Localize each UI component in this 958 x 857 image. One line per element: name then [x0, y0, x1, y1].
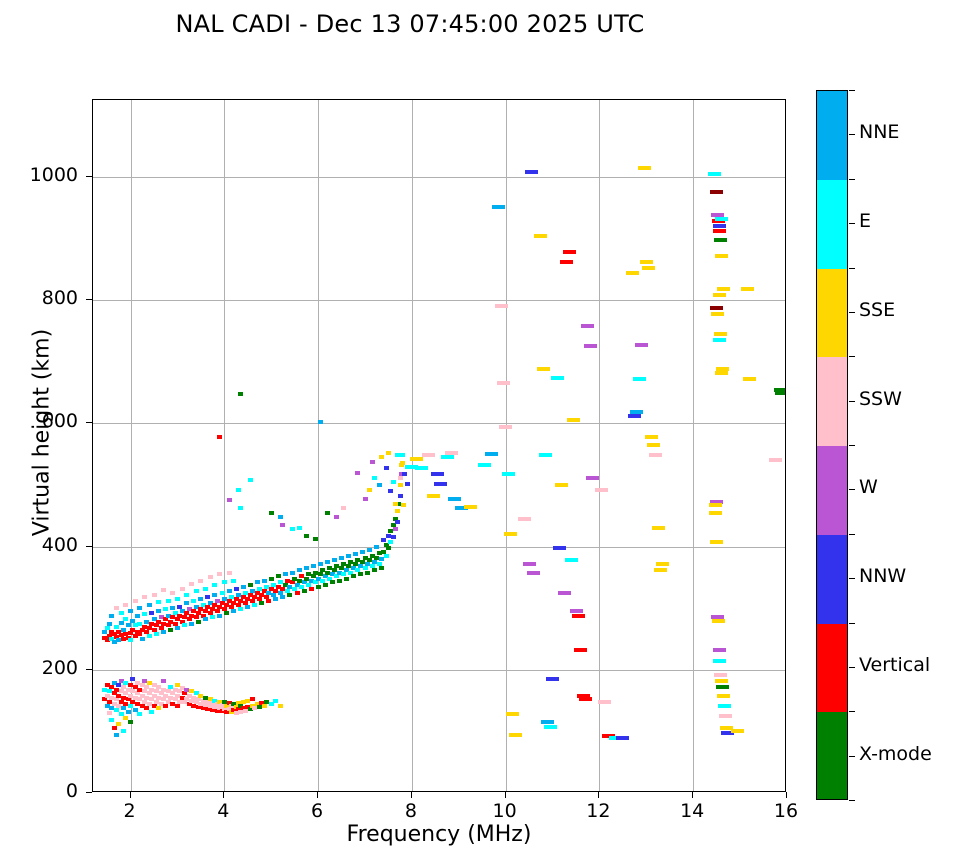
- data-point: [544, 725, 557, 729]
- colorbar-band-vertical[interactable]: [817, 624, 847, 713]
- data-point: [297, 526, 302, 530]
- data-point: [360, 550, 365, 554]
- data-point: [119, 611, 124, 615]
- data-point: [269, 577, 274, 581]
- colorbar-tick: [849, 134, 855, 135]
- data-point: [238, 506, 243, 510]
- data-point: [189, 582, 194, 586]
- data-point: [224, 611, 229, 615]
- data-point: [478, 463, 491, 467]
- data-point: [166, 599, 171, 603]
- data-point: [236, 488, 241, 492]
- data-point: [278, 515, 283, 519]
- data-point: [156, 600, 161, 604]
- data-point: [130, 677, 135, 681]
- data-point: [353, 552, 358, 556]
- x-axis-tick-label: 2: [100, 800, 160, 822]
- data-point: [135, 614, 140, 618]
- data-point: [198, 579, 203, 583]
- data-point: [534, 234, 547, 238]
- y-axis-tick: [86, 299, 92, 300]
- data-point: [231, 579, 236, 583]
- data-point: [123, 617, 128, 621]
- data-point: [595, 488, 608, 492]
- data-point: [398, 476, 403, 480]
- colorbar-band-e[interactable]: [817, 180, 847, 269]
- data-point: [551, 376, 564, 380]
- gridline-horizontal: [93, 547, 785, 548]
- data-point: [713, 293, 726, 297]
- data-point: [217, 435, 222, 439]
- data-point: [212, 593, 217, 597]
- data-point: [431, 472, 444, 476]
- colorbar-label-sse: SSE: [859, 299, 895, 321]
- data-point: [248, 478, 253, 482]
- data-point: [126, 623, 131, 627]
- data-point: [731, 729, 744, 733]
- data-point: [499, 425, 512, 429]
- data-point: [504, 532, 517, 536]
- ionogram-figure: NAL CADI - Dec 13 07:45:00 2025 UTC 2468…: [0, 0, 958, 857]
- data-point: [719, 714, 732, 718]
- data-point: [395, 453, 400, 457]
- data-point: [715, 217, 728, 221]
- data-point: [142, 612, 147, 616]
- colorbar-band-w[interactable]: [817, 446, 847, 535]
- data-point: [769, 458, 782, 462]
- page-title: NAL CADI - Dec 13 07:45:00 2025 UTC: [0, 10, 820, 38]
- data-point: [304, 534, 309, 538]
- data-point: [400, 453, 405, 457]
- data-point: [427, 494, 440, 498]
- colorbar-edge-tick: [849, 534, 855, 535]
- colorbar-edge-tick: [849, 800, 855, 801]
- data-point: [175, 626, 180, 630]
- data-point: [241, 585, 246, 589]
- colorbar-band-ssw[interactable]: [817, 357, 847, 446]
- data-point: [630, 410, 643, 414]
- data-point: [775, 391, 786, 395]
- data-point: [283, 572, 288, 576]
- data-point: [537, 367, 550, 371]
- data-point: [506, 712, 519, 716]
- data-point: [227, 571, 232, 575]
- data-point: [563, 250, 576, 254]
- x-axis-tick-label: 10: [475, 800, 535, 822]
- data-point: [252, 603, 257, 607]
- data-point: [374, 545, 379, 549]
- data-point: [441, 455, 454, 459]
- data-point: [708, 172, 721, 176]
- data-point: [170, 606, 175, 610]
- x-axis-tick: [317, 792, 318, 798]
- data-point: [166, 623, 171, 627]
- data-point: [633, 377, 646, 381]
- gridline-horizontal: [93, 423, 785, 424]
- data-point: [714, 238, 727, 242]
- data-point: [334, 515, 339, 519]
- colorbar-band-nne[interactable]: [817, 91, 847, 180]
- data-point: [716, 685, 729, 689]
- data-point: [399, 463, 404, 467]
- data-point: [299, 585, 304, 589]
- data-point: [149, 611, 154, 615]
- data-point: [713, 229, 726, 233]
- data-point: [579, 697, 592, 701]
- data-point: [546, 677, 559, 681]
- colorbar-label-nne: NNE: [859, 121, 899, 143]
- data-point: [266, 599, 271, 603]
- colorbar-tick: [849, 756, 855, 757]
- gridline-vertical: [506, 100, 507, 791]
- data-point: [445, 451, 458, 455]
- data-point: [539, 453, 552, 457]
- data-point: [523, 562, 536, 566]
- data-point: [262, 579, 267, 583]
- data-point: [123, 603, 128, 607]
- data-point: [391, 480, 396, 484]
- data-point: [381, 538, 386, 542]
- data-point: [565, 558, 578, 562]
- x-axis-tick: [505, 792, 506, 798]
- data-point: [114, 733, 119, 737]
- data-point: [126, 710, 131, 714]
- colorbar-label-e: E: [859, 210, 871, 232]
- data-point: [238, 607, 243, 611]
- data-point: [344, 577, 349, 581]
- data-point: [137, 712, 142, 716]
- y-axis-tick-label: 0: [0, 780, 78, 802]
- data-point: [163, 704, 168, 708]
- colorbar-band-nnw[interactable]: [817, 535, 847, 624]
- data-point: [142, 595, 147, 599]
- data-point: [245, 605, 250, 609]
- data-point: [154, 632, 159, 636]
- data-point: [713, 224, 726, 228]
- data-point: [163, 607, 168, 611]
- data-point: [649, 453, 662, 457]
- data-point: [217, 572, 222, 576]
- data-point: [714, 332, 727, 336]
- data-point: [384, 554, 389, 558]
- data-point: [717, 287, 730, 291]
- data-point: [168, 628, 173, 632]
- data-point: [152, 593, 157, 597]
- x-axis-tick: [598, 792, 599, 798]
- y-axis-tick: [86, 792, 92, 793]
- gridline-horizontal: [93, 670, 785, 671]
- data-point: [388, 489, 393, 493]
- data-point: [318, 562, 323, 566]
- data-point: [276, 574, 281, 578]
- data-point: [372, 568, 377, 572]
- data-point: [388, 540, 393, 544]
- y-axis-label: Virtual height (km): [30, 86, 55, 780]
- data-point: [205, 595, 210, 599]
- data-point: [290, 527, 295, 531]
- data-point: [114, 625, 119, 629]
- colorbar-edge-tick: [849, 179, 855, 180]
- data-point: [712, 619, 725, 623]
- data-point: [509, 733, 522, 737]
- gridline-vertical: [693, 100, 694, 791]
- x-axis-tick-label: 4: [193, 800, 253, 822]
- data-point: [405, 482, 410, 486]
- data-point: [718, 704, 731, 708]
- data-point: [109, 614, 114, 618]
- x-axis-tick-label: 12: [568, 800, 628, 822]
- colorbar-label-vertical: Vertical: [859, 654, 930, 676]
- data-point: [313, 537, 318, 541]
- colorbar-edge-tick: [849, 90, 855, 91]
- data-point: [175, 704, 180, 708]
- x-axis-tick: [223, 792, 224, 798]
- y-axis-tick: [86, 422, 92, 423]
- data-point: [194, 615, 199, 619]
- data-point: [259, 601, 264, 605]
- data-point: [287, 593, 292, 597]
- colorbar-edge-tick: [849, 445, 855, 446]
- data-point: [280, 523, 285, 527]
- x-axis-tick-label: 16: [756, 800, 816, 822]
- data-point: [337, 579, 342, 583]
- data-point: [194, 589, 199, 593]
- data-point: [713, 659, 726, 663]
- data-point: [581, 324, 594, 328]
- data-point: [248, 583, 253, 587]
- data-point: [208, 575, 213, 579]
- data-point: [295, 591, 300, 595]
- data-point: [574, 648, 587, 652]
- colorbar-band-x-mode[interactable]: [817, 712, 847, 800]
- data-point: [656, 562, 669, 566]
- data-point: [175, 597, 180, 601]
- colorbar[interactable]: [816, 90, 848, 800]
- data-point: [210, 615, 215, 619]
- data-point: [227, 498, 232, 502]
- data-point: [497, 381, 510, 385]
- data-point: [395, 520, 400, 524]
- data-point: [156, 609, 161, 613]
- data-point: [130, 619, 135, 623]
- colorbar-label-x-mode: X-mode: [859, 743, 932, 765]
- data-point: [393, 502, 398, 506]
- data-point: [309, 587, 314, 591]
- data-point: [220, 591, 225, 595]
- data-point: [555, 483, 568, 487]
- data-point: [198, 597, 203, 601]
- data-point: [238, 392, 243, 396]
- data-point: [290, 571, 295, 575]
- colorbar-label-w: W: [859, 476, 878, 498]
- data-point: [502, 472, 515, 476]
- data-point: [184, 601, 189, 605]
- data-point: [635, 343, 648, 347]
- data-point: [112, 726, 117, 730]
- data-point: [325, 560, 330, 564]
- data-point: [616, 736, 629, 740]
- data-point: [255, 580, 260, 584]
- data-point: [189, 622, 194, 626]
- data-point: [422, 453, 435, 457]
- data-point: [212, 583, 217, 587]
- data-point: [116, 722, 121, 726]
- data-point: [647, 443, 660, 447]
- colorbar-tick: [849, 401, 855, 402]
- data-point: [170, 591, 175, 595]
- data-point: [222, 580, 227, 584]
- data-point: [269, 511, 274, 515]
- x-axis-tick: [130, 792, 131, 798]
- data-point: [278, 704, 283, 708]
- data-point: [560, 260, 573, 264]
- data-point: [140, 637, 145, 641]
- data-point: [273, 699, 278, 703]
- data-point: [626, 271, 639, 275]
- data-point: [114, 708, 119, 712]
- data-point: [372, 476, 377, 480]
- data-point: [346, 554, 351, 558]
- data-point: [379, 566, 384, 570]
- data-point: [297, 568, 302, 572]
- colorbar-tick: [849, 223, 855, 224]
- data-point: [717, 694, 730, 698]
- data-point: [713, 338, 726, 342]
- x-axis-tick-label: 6: [287, 800, 347, 822]
- gridline-vertical: [318, 100, 319, 791]
- data-point: [316, 585, 321, 589]
- data-point: [377, 483, 382, 487]
- data-point: [393, 527, 398, 531]
- plot-area[interactable]: [92, 99, 786, 792]
- colorbar-edge-tick: [849, 623, 855, 624]
- colorbar-edge-tick: [849, 356, 855, 357]
- data-point: [161, 679, 166, 683]
- data-point: [227, 589, 232, 593]
- data-point: [386, 546, 391, 550]
- gridline-horizontal: [93, 177, 785, 178]
- data-point: [558, 591, 571, 595]
- data-point: [386, 451, 391, 455]
- data-point: [598, 700, 611, 704]
- data-point: [715, 679, 728, 683]
- data-point: [495, 304, 508, 308]
- data-point: [234, 587, 239, 591]
- data-point: [572, 614, 585, 618]
- colorbar-label-ssw: SSW: [859, 388, 902, 410]
- data-point: [184, 593, 189, 597]
- data-point: [711, 312, 724, 316]
- data-point: [325, 511, 330, 515]
- data-point: [147, 634, 152, 638]
- data-point: [311, 564, 316, 568]
- data-point: [464, 505, 477, 509]
- y-axis-tick: [86, 669, 92, 670]
- data-point: [586, 476, 599, 480]
- data-point: [370, 460, 375, 464]
- colorbar-tick: [849, 489, 855, 490]
- data-point: [128, 638, 133, 642]
- data-point: [715, 371, 728, 375]
- data-point: [351, 574, 356, 578]
- gridline-horizontal: [93, 300, 785, 301]
- data-point: [191, 599, 196, 603]
- data-point: [323, 583, 328, 587]
- y-axis-tick: [86, 176, 92, 177]
- data-point: [638, 166, 651, 170]
- x-axis-tick: [411, 792, 412, 798]
- data-point: [379, 455, 384, 459]
- data-point: [339, 556, 344, 560]
- data-point: [743, 377, 756, 381]
- colorbar-tick: [849, 578, 855, 579]
- colorbar-label-nnw: NNW: [859, 565, 906, 587]
- y-axis-tick: [86, 546, 92, 547]
- data-point: [741, 287, 754, 291]
- data-point: [119, 621, 124, 625]
- data-point: [710, 190, 723, 194]
- data-point: [304, 566, 309, 570]
- data-point: [567, 418, 580, 422]
- data-point: [217, 614, 222, 618]
- data-point: [114, 606, 119, 610]
- data-point: [107, 622, 112, 626]
- data-point: [402, 472, 407, 476]
- data-point: [365, 571, 370, 575]
- data-point: [137, 606, 142, 610]
- data-point: [628, 414, 641, 418]
- data-point: [109, 718, 114, 722]
- colorbar-edge-tick: [849, 711, 855, 712]
- data-point: [391, 535, 396, 539]
- data-point: [518, 517, 531, 521]
- data-point: [149, 710, 154, 714]
- gridline-vertical: [224, 100, 225, 791]
- colorbar-edge-tick: [849, 268, 855, 269]
- colorbar-band-sse[interactable]: [817, 269, 847, 358]
- colorbar-tick: [849, 667, 855, 668]
- x-axis-tick: [692, 792, 693, 798]
- data-point: [128, 720, 133, 724]
- data-point: [358, 572, 363, 576]
- data-point: [271, 593, 276, 597]
- data-point: [645, 435, 658, 439]
- data-point: [716, 367, 729, 371]
- data-point: [273, 597, 278, 601]
- data-point: [642, 266, 655, 270]
- data-point: [280, 595, 285, 599]
- data-point: [363, 497, 368, 501]
- data-point: [710, 306, 723, 310]
- data-point: [485, 452, 498, 456]
- data-point: [640, 260, 653, 264]
- data-point: [156, 706, 161, 710]
- data-point: [180, 587, 185, 591]
- data-point: [302, 589, 307, 593]
- data-point: [318, 420, 323, 424]
- data-point: [714, 673, 727, 677]
- data-point: [262, 704, 267, 708]
- data-point: [133, 708, 138, 712]
- data-point: [434, 482, 447, 486]
- colorbar-tick: [849, 312, 855, 313]
- data-point: [401, 503, 406, 507]
- data-point: [715, 254, 728, 258]
- data-point: [652, 526, 665, 530]
- data-point: [492, 205, 505, 209]
- data-point: [448, 497, 461, 501]
- data-point: [367, 488, 372, 492]
